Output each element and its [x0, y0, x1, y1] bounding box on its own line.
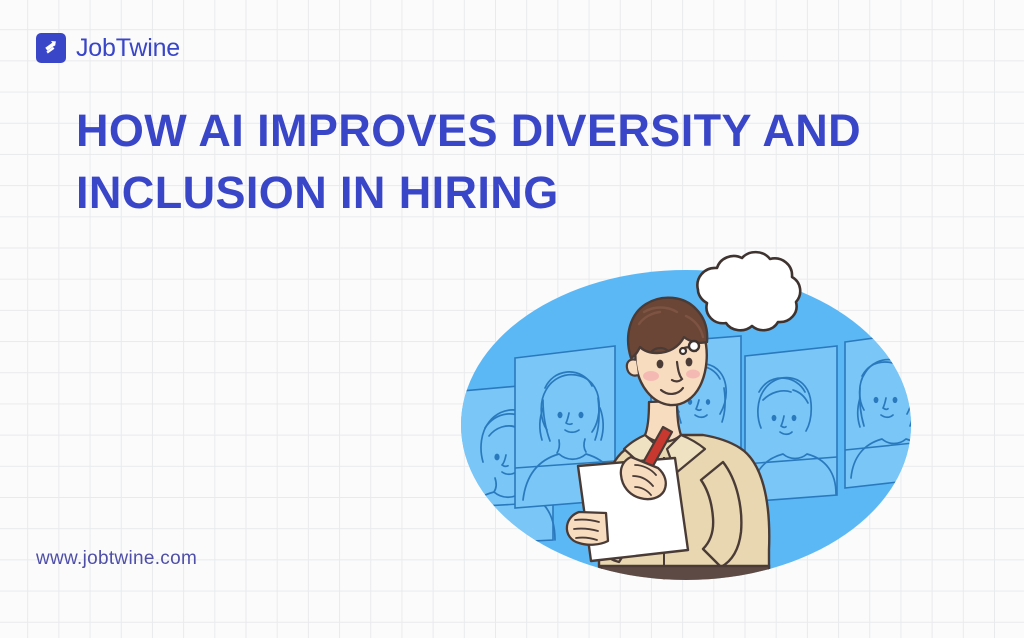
- hero-illustration: [455, 250, 935, 595]
- recruiter-left-hand: [567, 512, 608, 545]
- arrow-up-right-icon: [36, 33, 66, 63]
- brand-name: JobTwine: [76, 36, 180, 61]
- candidate-card-5: [845, 330, 934, 488]
- page-title: HOW AI IMPROVES DIVERSITY AND INCLUSION …: [76, 100, 876, 224]
- recruiter-trousers: [601, 566, 769, 595]
- brand-logo[interactable]: JobTwine: [36, 33, 180, 63]
- website-url[interactable]: www.jobtwine.com: [36, 548, 197, 570]
- poster-canvas: JobTwine HOW AI IMPROVES DIVERSITY AND I…: [0, 0, 1024, 638]
